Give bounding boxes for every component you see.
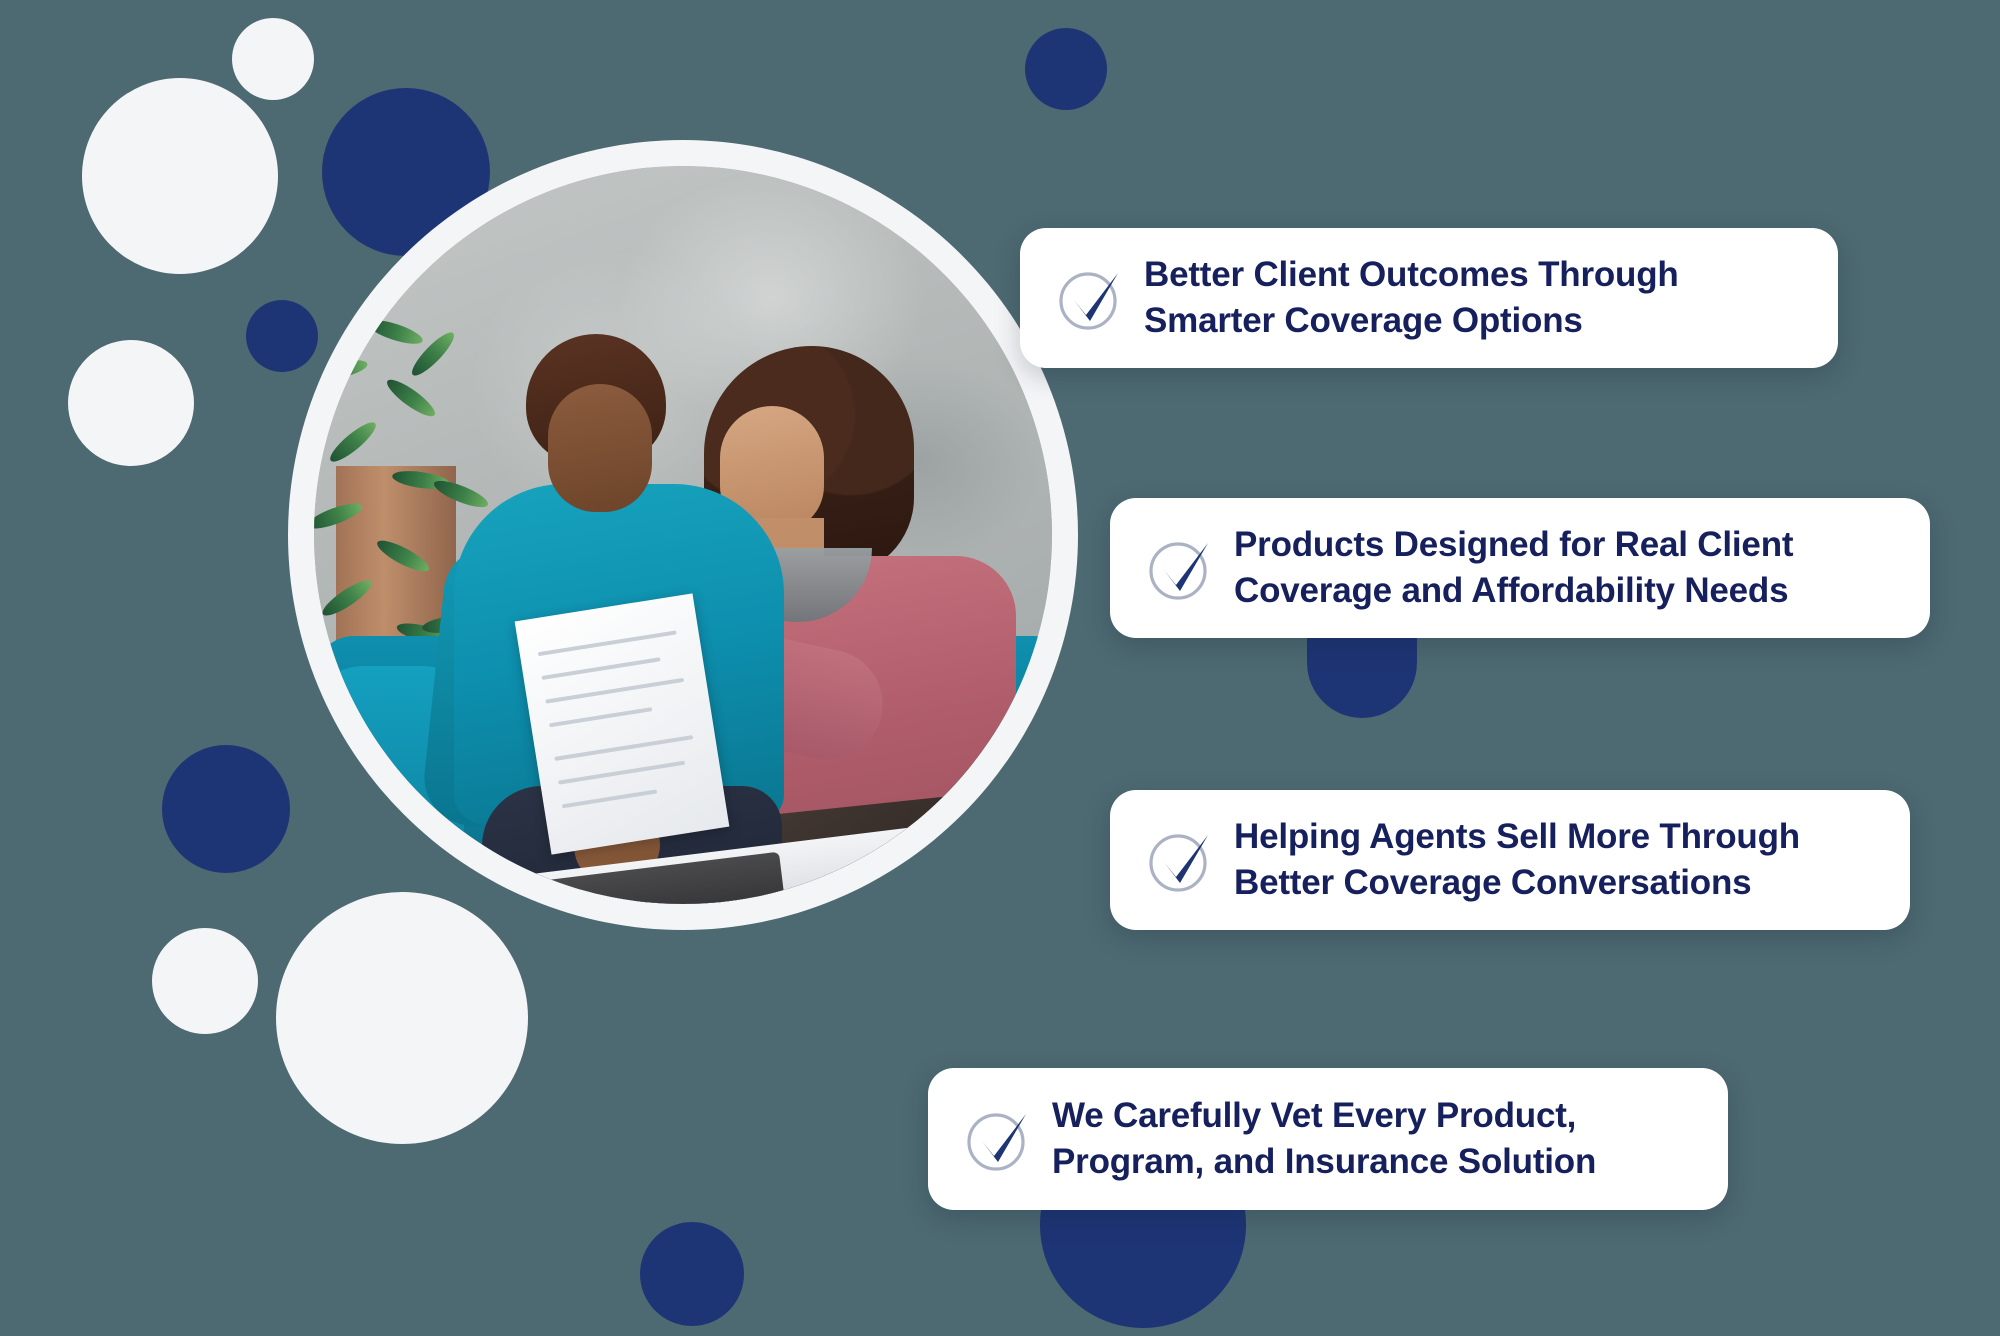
check-circle-icon [1052,259,1130,337]
navy-circle-bottom-left [640,1222,744,1326]
feature-card-1-label: Better Client Outcomes Through Smarter C… [1144,252,1679,344]
white-circle-left-mid [68,340,194,466]
feature-card-3-label: Helping Agents Sell More Through Better … [1234,814,1800,906]
white-circle-bottom-overlap [276,892,528,1144]
feature-card-2[interactable]: Products Designed for Real Client Covera… [1110,498,1930,638]
hero-section: Better Client Outcomes Through Smarter C… [0,0,2000,1336]
hero-photo-frame [288,140,1078,930]
document-paper [515,593,730,854]
navy-circle-left-lower [162,745,290,873]
check-circle-icon [1142,529,1220,607]
feature-card-3[interactable]: Helping Agents Sell More Through Better … [1110,790,1910,930]
navy-circle-top-right [1025,28,1107,110]
feature-card-4[interactable]: We Carefully Vet Every Product, Program,… [928,1068,1728,1210]
feature-card-4-label: We Carefully Vet Every Product, Program,… [1052,1093,1596,1185]
feature-card-1[interactable]: Better Client Outcomes Through Smarter C… [1020,228,1838,368]
white-circle-top-small [232,18,314,100]
feature-card-2-label: Products Designed for Real Client Covera… [1234,522,1793,614]
hero-photo [314,166,1052,904]
white-circle-left-bottom [152,928,258,1034]
check-circle-icon [960,1100,1038,1178]
check-circle-icon [1142,821,1220,899]
navy-circle-left-upper [246,300,318,372]
white-circle-top-left-large [82,78,278,274]
person-left-face [548,384,652,512]
